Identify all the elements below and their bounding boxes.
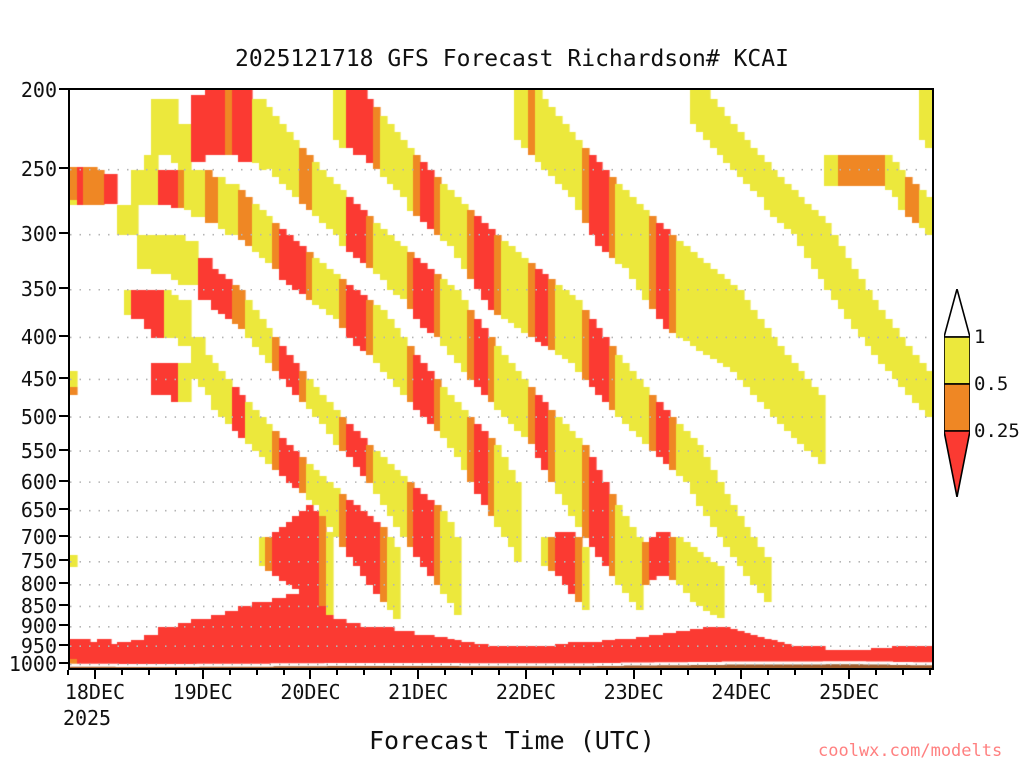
y-axis-tick-mark	[59, 335, 68, 337]
page-title: 2025121718 GFS Forecast Richardson# KCAI	[0, 46, 1024, 72]
colorbar-label-0-5: 0.5	[974, 375, 1008, 394]
x-axis-tick-mark	[525, 670, 527, 679]
colorbar-swatches	[944, 289, 970, 497]
y-axis-tick-label: 500	[21, 406, 57, 428]
x-axis-minor-tick	[687, 670, 689, 675]
richardson-heatmap[interactable]	[70, 90, 932, 668]
y-axis-tick-600: 600	[21, 469, 68, 491]
x-axis-tick-mark	[848, 670, 850, 679]
y-axis-tick-400: 400	[21, 324, 68, 346]
x-axis-minor-tick	[714, 670, 716, 675]
x-axis-minor-tick	[148, 670, 150, 675]
y-axis-tick-mark	[59, 508, 68, 510]
y-axis-tick-mark	[59, 377, 68, 379]
x-axis-minor-tick	[363, 670, 365, 675]
x-axis-minor-tick	[875, 670, 877, 675]
y-axis-tick-200: 200	[21, 77, 68, 99]
colorbar-label-1: 1	[974, 328, 985, 347]
colorbar-segment-yellow	[944, 337, 970, 384]
y-axis-tick-label: 600	[21, 471, 57, 493]
x-axis: 2025 18DEC19DEC20DEC21DEC22DEC23DEC24DEC…	[68, 670, 934, 730]
y-axis-tick-mark	[59, 232, 68, 234]
y-axis-tick-mark	[59, 167, 68, 169]
x-axis-tick-label-20DEC: 20DEC	[270, 680, 350, 704]
y-axis-tick-label: 550	[21, 440, 57, 462]
x-axis-tick-mark	[633, 670, 635, 679]
y-axis-tick-label: 400	[21, 326, 57, 348]
x-axis-minor-tick	[498, 670, 500, 675]
x-axis-minor-tick	[256, 670, 258, 675]
x-axis-tick-mark	[202, 670, 204, 679]
y-axis-tick-label: 750	[21, 550, 57, 572]
y-axis-tick-label: 450	[21, 368, 57, 390]
x-axis-minor-tick	[175, 670, 177, 675]
y-axis-tick-mark	[59, 449, 68, 451]
y-axis-tick-label: 250	[21, 158, 57, 180]
x-axis-minor-tick	[821, 670, 823, 675]
y-axis-tick-mark	[59, 644, 68, 646]
y-axis-tick-450: 450	[21, 366, 68, 388]
y-axis-tick-mark	[59, 287, 68, 289]
colorbar-extend-top	[944, 289, 970, 337]
x-axis-tick-label-21DEC: 21DEC	[378, 680, 458, 704]
y-axis-tick-650: 650	[21, 498, 68, 520]
y-axis-tick-500: 500	[21, 404, 68, 426]
colorbar-extend-bottom	[944, 431, 970, 497]
colorbar[interactable]: 1 0.5 0.25	[944, 289, 970, 497]
x-axis-tick-label-23DEC: 23DEC	[594, 680, 674, 704]
x-axis-minor-tick	[606, 670, 608, 675]
y-axis-tick-label: 1000	[9, 653, 57, 675]
x-axis-minor-tick	[67, 670, 69, 675]
x-axis-minor-tick	[552, 670, 554, 675]
y-axis-tick-mark	[59, 415, 68, 417]
x-axis-minor-tick	[794, 670, 796, 675]
y-axis-tick-label: 700	[21, 526, 57, 548]
x-axis-tick-mark	[417, 670, 419, 679]
x-axis-minor-tick	[121, 670, 123, 675]
y-axis-tick-1000: 1000	[9, 651, 68, 673]
y-axis-tick-700: 700	[21, 524, 68, 546]
y-axis-tick-mark	[59, 88, 68, 90]
x-axis-minor-tick	[902, 670, 904, 675]
plot-area[interactable]	[68, 88, 934, 670]
y-axis-tick-850: 850	[21, 593, 68, 615]
y-axis-tick-250: 250	[21, 157, 68, 179]
x-axis-minor-tick	[929, 670, 931, 675]
colorbar-label-0-25: 0.25	[974, 422, 1020, 441]
y-axis-tick-750: 750	[21, 549, 68, 571]
x-axis-minor-tick	[229, 670, 231, 675]
x-axis-tick-label-25DEC: 25DEC	[809, 680, 889, 704]
y-axis-tick-label: 650	[21, 499, 57, 521]
y-axis-tick-mark	[59, 582, 68, 584]
y-axis-tick-800: 800	[21, 572, 68, 594]
y-axis-tick-300: 300	[21, 222, 68, 244]
y-axis-tick-550: 550	[21, 438, 68, 460]
y-axis-tick-mark	[59, 559, 68, 561]
y-axis-tick-350: 350	[21, 277, 68, 299]
y-axis-tick-label: 800	[21, 573, 57, 595]
x-axis-minor-tick	[336, 670, 338, 675]
x-axis-tick-mark	[740, 670, 742, 679]
x-axis-minor-tick	[660, 670, 662, 675]
y-axis-tick-label: 200	[21, 79, 57, 101]
x-axis-minor-tick	[283, 670, 285, 675]
x-axis-minor-tick	[767, 670, 769, 675]
x-axis-minor-tick	[471, 670, 473, 675]
watermark-link[interactable]: coolwx.com/modelts	[818, 741, 1002, 761]
x-axis-tick-label-22DEC: 22DEC	[486, 680, 566, 704]
y-axis-tick-mark	[59, 480, 68, 482]
x-axis-tick-label-24DEC: 24DEC	[701, 680, 781, 704]
x-axis-tick-label-19DEC: 19DEC	[163, 680, 243, 704]
x-axis-minor-tick	[444, 670, 446, 675]
x-axis-minor-tick	[390, 670, 392, 675]
colorbar-segment-orange	[944, 384, 970, 431]
x-axis-tick-mark	[309, 670, 311, 679]
y-axis-tick-label: 350	[21, 278, 57, 300]
y-axis-tick-mark	[59, 624, 68, 626]
y-axis-tick-mark	[59, 535, 68, 537]
x-axis-tick-label-18DEC: 18DEC	[55, 680, 135, 704]
y-axis-tick-mark	[59, 604, 68, 606]
y-axis-tick-mark	[59, 662, 68, 664]
y-axis: 2002503003504004505005506006507007508008…	[0, 88, 68, 670]
y-axis-tick-label: 300	[21, 223, 57, 245]
x-axis-minor-tick	[579, 670, 581, 675]
gfs-richardson-figure: 2025121718 GFS Forecast Richardson# KCAI…	[0, 0, 1024, 768]
x-axis-tick-mark	[94, 670, 96, 679]
